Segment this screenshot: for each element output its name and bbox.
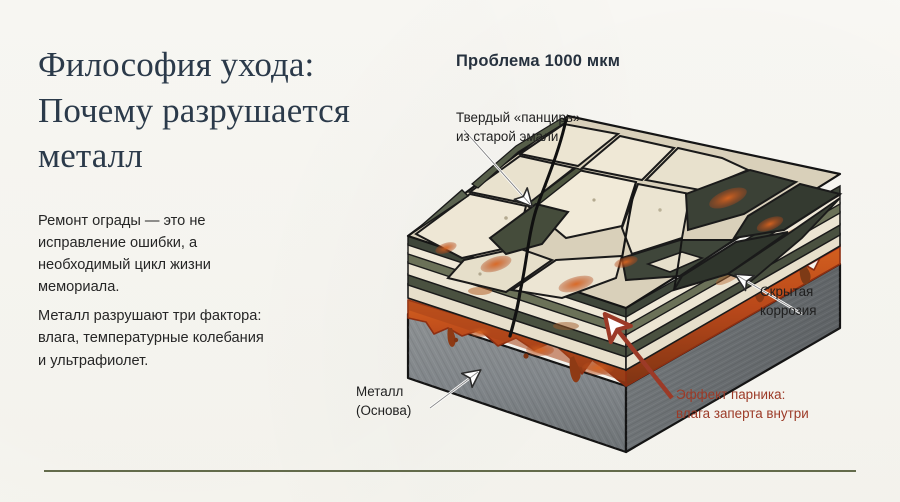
cross-section-diagram [330, 78, 890, 438]
slide-root: Философия ухода: Почему разрушается мета… [0, 0, 900, 502]
section-kicker: Проблема 1000 мкм [456, 52, 620, 71]
callout-label-enamel-shell: Твердый «панцирь» из старой эмали [456, 109, 580, 146]
callout-label-hidden-corrosion: Скрытая коррозия [760, 283, 817, 320]
callout-label-greenhouse-effect: Эффект парника: влага заперта внутри [676, 386, 809, 423]
footer-divider [44, 470, 856, 472]
illustration-container [330, 78, 890, 438]
callout-label-metal-base: Металл (Основа) [356, 383, 411, 420]
